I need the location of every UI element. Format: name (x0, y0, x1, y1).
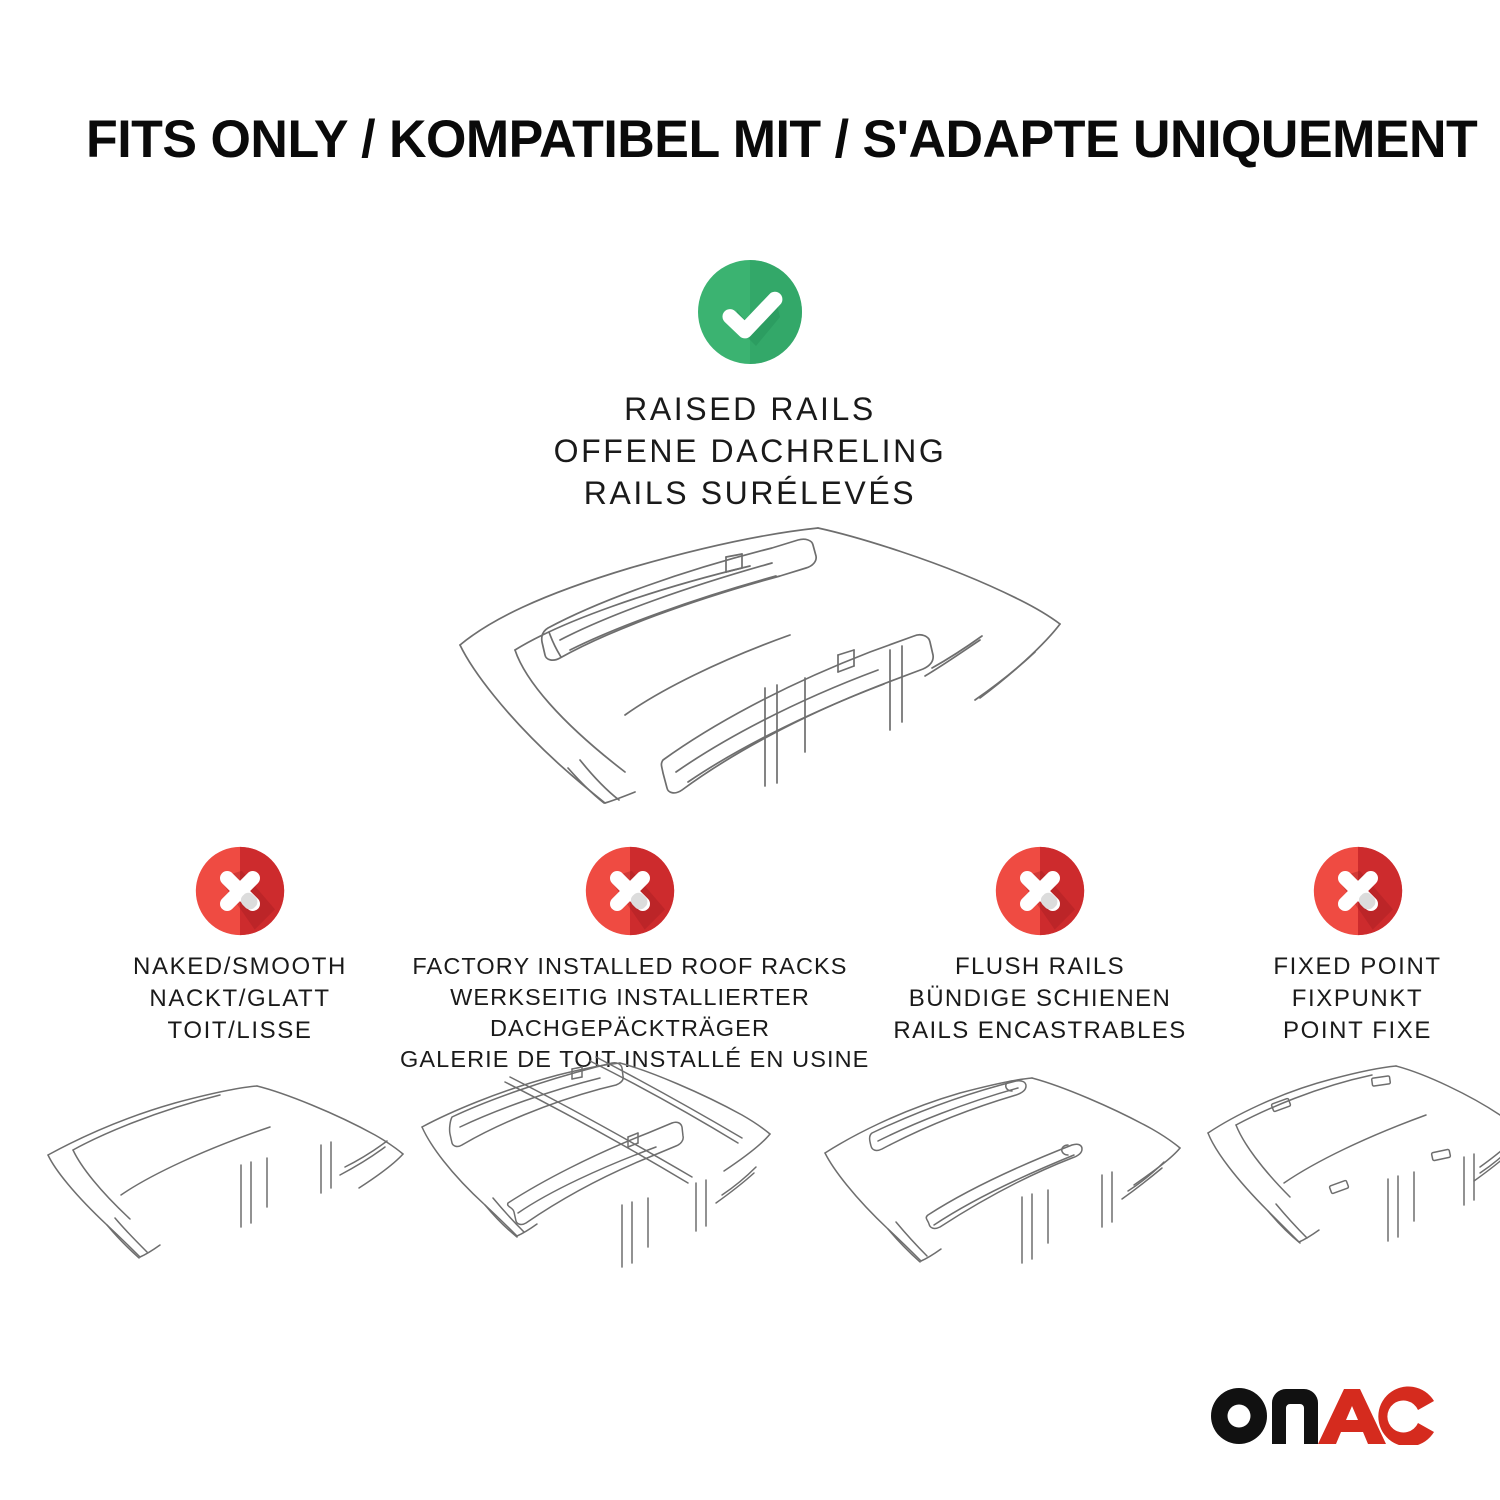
incompatible-item-fixed-point: FIXED POINT FIXPUNKT POINT FIXE (1215, 845, 1500, 1047)
car-roof-fixed-point-illustration (1155, 1055, 1500, 1305)
incompatible-labels: FIXED POINT FIXPUNKT POINT FIXE (1215, 951, 1500, 1047)
car-roof-raised-rails-illustration (420, 500, 1080, 820)
page-title: FITS ONLY / KOMPATIBEL MIT / S'ADAPTE UN… (86, 112, 1399, 168)
incompatible-item-naked-smooth: NAKED/SMOOTH NACKT/GLATT TOIT/LISSE (35, 845, 445, 1047)
incompatible-label-de: BÜNDIGE SCHIENEN (855, 983, 1225, 1015)
incompatible-label-de-2: DACHGEPÄCKTRÄGER (400, 1013, 860, 1044)
incompatible-label-en: FLUSH RAILS (855, 951, 1225, 983)
incompatible-label-en: NAKED/SMOOTH (35, 951, 445, 983)
car-roof-factory-racks-illustration (410, 1055, 805, 1305)
compatible-label-de: OFFENE DACHRELING (0, 430, 1500, 472)
incompatible-labels: NAKED/SMOOTH NACKT/GLATT TOIT/LISSE (35, 951, 445, 1047)
incompatible-label-de-1: WERKSEITIG INSTALLIERTER (400, 982, 860, 1013)
incompatible-label-en: FIXED POINT (1215, 951, 1500, 983)
compatible-roof-type-block: RAISED RAILS OFFENE DACHRELING RAILS SUR… (0, 258, 1500, 514)
cross-circle-icon (584, 845, 676, 937)
incompatible-label-en: FACTORY INSTALLED ROOF RACKS (400, 951, 860, 982)
cross-circle-icon (194, 845, 286, 937)
incompatible-label-de: NACKT/GLATT (35, 983, 445, 1015)
compatible-label-en: RAISED RAILS (0, 388, 1500, 430)
incompatible-label-de: FIXPUNKT (1215, 983, 1500, 1015)
cross-circle-icon (1312, 845, 1404, 937)
omac-logo (1208, 1383, 1438, 1445)
car-roof-naked-illustration (45, 1055, 440, 1305)
compatible-labels: RAISED RAILS OFFENE DACHRELING RAILS SUR… (0, 388, 1500, 514)
incompatible-item-flush-rails: FLUSH RAILS BÜNDIGE SCHIENEN RAILS ENCAS… (855, 845, 1225, 1047)
cross-circle-icon (994, 845, 1086, 937)
incompatible-label-fr: POINT FIXE (1215, 1015, 1500, 1047)
incompatible-label-fr: TOIT/LISSE (35, 1015, 445, 1047)
incompatible-item-factory-roof-racks: FACTORY INSTALLED ROOF RACKS WERKSEITIG … (400, 845, 860, 1075)
incompatible-label-fr: RAILS ENCASTRABLES (855, 1015, 1225, 1047)
incompatible-labels: FLUSH RAILS BÜNDIGE SCHIENEN RAILS ENCAS… (855, 951, 1225, 1047)
check-circle-icon (696, 258, 804, 366)
